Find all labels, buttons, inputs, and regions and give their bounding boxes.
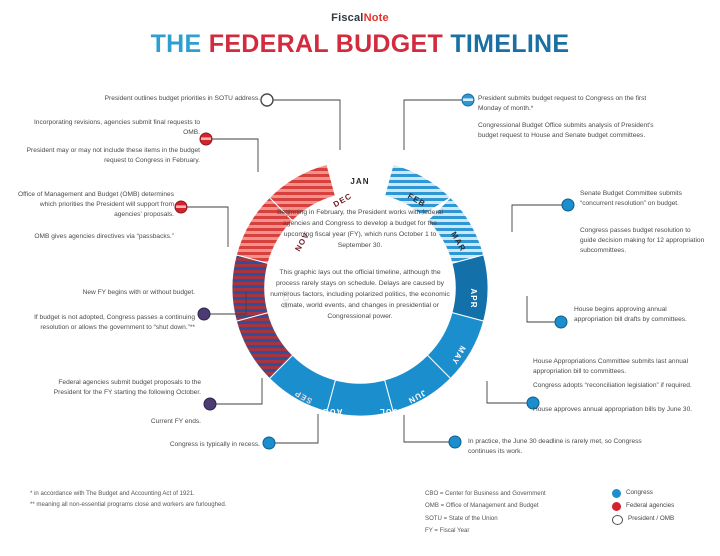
month-label-jul: JUL [379, 407, 397, 416]
legend: Congress Federal agencies President / OM… [612, 487, 674, 526]
annotation-may-not-include: President may or may not include these i… [20, 146, 200, 166]
annotation-new-fy: New FY begins with or without budget. [20, 288, 195, 298]
leader-line-budget-request [404, 100, 462, 150]
legend-label-congress: Congress [626, 490, 653, 497]
annotation-budget-request: President submits budget request to Cong… [478, 94, 663, 114]
marker-congress-concurrent-res[interactable] [562, 199, 574, 211]
leader-line-approves-june [487, 381, 527, 403]
center-paragraph-1: Beginning in February, the President wor… [268, 207, 452, 251]
marker-mixed-continuing-res[interactable] [198, 308, 210, 320]
leader-line-concurrent-res [512, 205, 562, 232]
annotation-reconciliation: Congress adopts “reconciliation legislat… [533, 381, 713, 391]
legend-label-federal-agencies: Federal agencies [626, 503, 674, 510]
annotation-agency-proposals: Federal agencies submit budget proposals… [40, 378, 201, 398]
leader-line-recess [275, 414, 318, 443]
annotation-cbo-analysis: Congressional Budget Office submits anal… [478, 121, 668, 141]
annotation-continuing-resolution: If budget is not adopted, Congress passe… [14, 313, 195, 333]
annotation-in-practice: In practice, the June 30 deadline is rar… [468, 437, 653, 457]
annotation-last-bill: House Appropriations Committee submits l… [533, 357, 713, 377]
leader-line-sotu [272, 100, 340, 150]
footnote-2: ** meaning all non-essential programs cl… [30, 500, 390, 511]
annotation-final-requests: Incorporating revisions, agencies submit… [30, 118, 200, 138]
marker-mixed-agency-proposals[interactable] [204, 398, 216, 410]
marker-congress-house-approving[interactable] [555, 316, 567, 328]
leader-line-omb-determines [187, 207, 228, 247]
center-paragraph-2: This graphic lays out the official timel… [268, 267, 452, 322]
abbreviation-sotu: SOTU = State of the Union [425, 513, 615, 525]
annotation-current-fy-ends: Current FY ends. [40, 417, 201, 427]
marker-stripe-3 [463, 98, 473, 101]
annotation-concurrent-resolution: Senate Budget Committee submits “concurr… [580, 189, 708, 209]
footnote-1: * in accordance with The Budget and Acco… [30, 489, 370, 500]
leader-line-agency-proposals [216, 378, 262, 404]
annotation-approves-by-june-30: House approves annual appropriation bill… [533, 405, 703, 415]
legend-dot-congress-icon [612, 489, 621, 498]
legend-label-president-omb: President / OMB [628, 516, 674, 523]
infographic-canvas: FiscalNote THE FEDERAL BUDGET TIMELINE [0, 0, 720, 556]
annotation-house-approving: House begins approving annual appropriat… [574, 305, 702, 325]
month-label-apr: APR [469, 288, 478, 308]
annotation-sotu: President outlines budget priorities in … [40, 94, 260, 104]
abbreviation-cbo: CBO = Center for Business and Government [425, 488, 615, 500]
marker-stripe-2 [176, 205, 186, 208]
abbreviation-omb: OMB = Office of Management and Budget [425, 500, 615, 512]
marker-congress-in-practice[interactable] [449, 436, 461, 448]
month-label-jan: JAN [350, 177, 369, 186]
annotation-omb-determines: Office of Management and Budget (OMB) de… [14, 190, 174, 220]
month-label-aug: AUG [321, 407, 342, 416]
legend-item-president-omb: President / OMB [612, 513, 674, 526]
leader-line-final-requests [212, 139, 258, 172]
legend-dot-federal-agencies-icon [612, 502, 621, 511]
annotation-recess: Congress is typically in recess. [80, 440, 260, 450]
annotation-budget-resolution: Congress passes budget resolution to gui… [580, 226, 708, 256]
marker-president-omb-sotu[interactable] [261, 94, 273, 106]
legend-item-federal-agencies: Federal agencies [612, 500, 674, 513]
annotation-passbacks: OMB gives agencies directives via “passb… [14, 232, 174, 242]
leader-line-house-approving [527, 296, 555, 322]
ring-segment-oct[interactable] [232, 255, 268, 321]
marker-stripe-1 [201, 137, 211, 140]
legend-item-congress: Congress [612, 487, 674, 500]
legend-dot-president-omb-icon [612, 515, 623, 525]
leader-line-in-practice [404, 415, 449, 442]
marker-congress-recess[interactable] [263, 437, 275, 449]
abbreviation-fy: FY = Fiscal Year [425, 525, 615, 537]
